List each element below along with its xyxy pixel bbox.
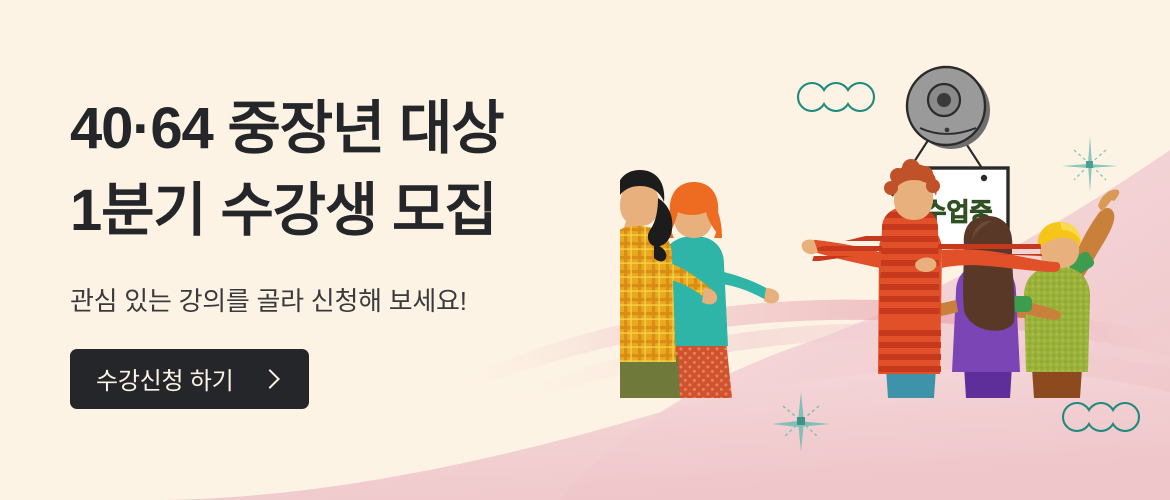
page-title: 40·64 중장년 대상 1분기 수강생 모집 [70, 88, 670, 253]
cloud-top-left [798, 83, 874, 111]
apply-course-button[interactable]: 수강신청 하기 [70, 349, 309, 409]
people-illustration: 수업중 [620, 0, 1170, 500]
headline-line-2: 1분기 수강생 모집 [70, 178, 496, 243]
sign-knob-icon [907, 67, 990, 149]
subtitle: 관심 있는 강의를 골라 신청해 보세요! [70, 281, 670, 318]
wristband-left [1012, 296, 1032, 312]
headline-line-1: 40·64 중장년 대상 [70, 96, 503, 161]
cloud-bottom-right [1063, 403, 1139, 431]
banner-copy: 40·64 중장년 대상 1분기 수강생 모집 관심 있는 강의를 골라 신청해… [70, 88, 670, 409]
chevron-right-icon [261, 369, 281, 389]
promo-banner: 40·64 중장년 대상 1분기 수강생 모집 관심 있는 강의를 골라 신청해… [0, 0, 1170, 500]
sparkle-bottom [772, 392, 830, 452]
sparkle-top-right [1062, 136, 1118, 192]
apply-course-label: 수강신청 하기 [96, 361, 233, 396]
person-striped-sweater [802, 159, 1064, 398]
